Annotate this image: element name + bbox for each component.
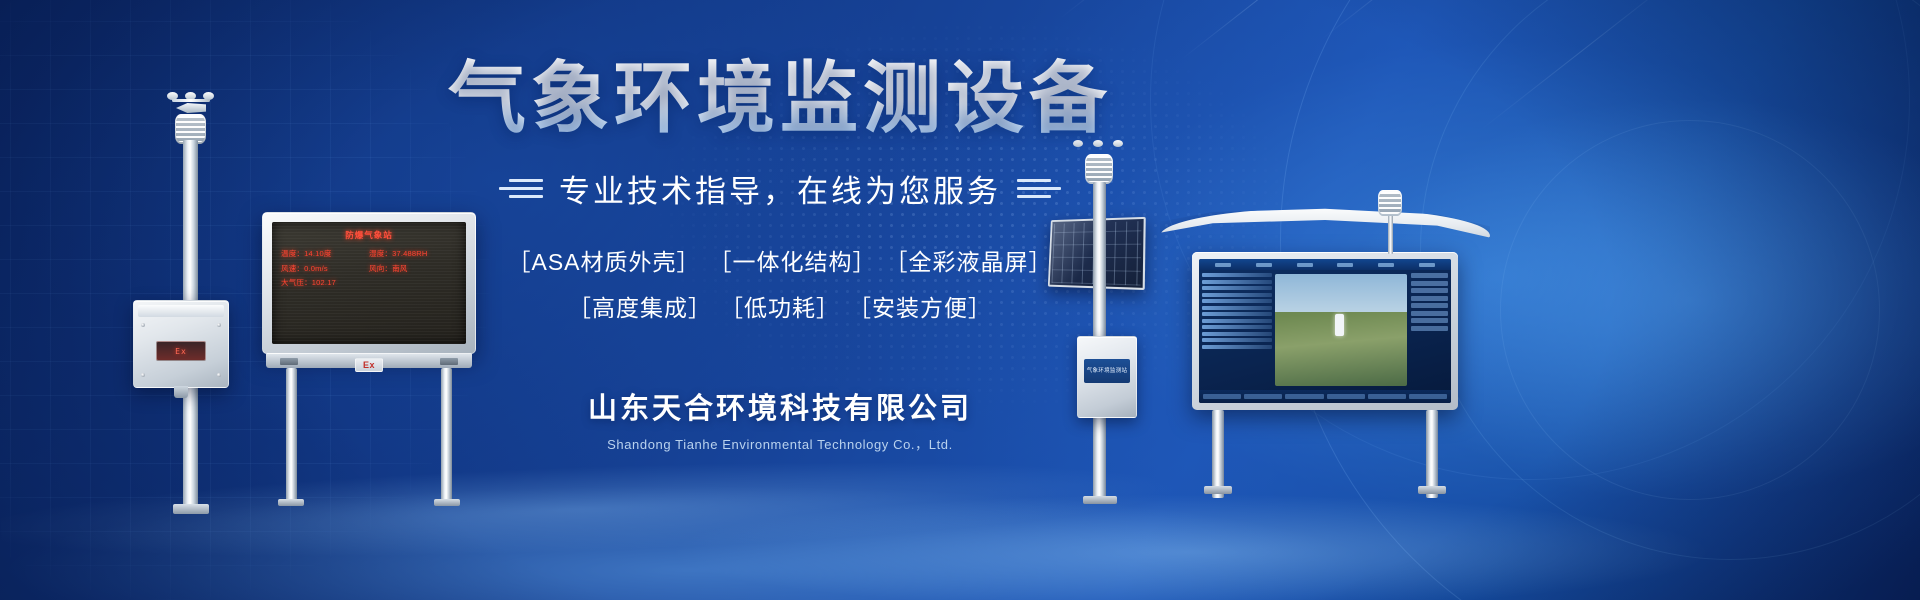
- feature-tag-list: ［ASA材质外壳］ ［一体化结构］ ［全彩液晶屏］ ［高度集成］ ［低功耗］ ［…: [507, 243, 1052, 323]
- kiosk-screen-body: [1199, 270, 1451, 390]
- screw-icon: [217, 373, 221, 377]
- banner-subtitle-row: 专业技术指导，在线为您服务: [499, 166, 1061, 211]
- kiosk-lcd-screen: [1199, 259, 1451, 403]
- feature-tag: ［安装方便］: [848, 289, 992, 323]
- display-leg: [286, 368, 297, 502]
- kiosk-foot: [1418, 486, 1446, 494]
- wind-vane-icon: [176, 103, 206, 113]
- kiosk-canopy: [1160, 208, 1490, 248]
- feature-tag: ［一体化结构］: [709, 243, 877, 277]
- feature-tag-row: ［ASA材质外壳］ ［一体化结构］ ［全彩液晶屏］: [507, 243, 1052, 277]
- feature-tag: ［全彩液晶屏］: [885, 243, 1053, 277]
- kiosk-screen-header: [1199, 259, 1451, 270]
- outdoor-lcd-kiosk-device: [1160, 190, 1490, 490]
- company-signature: 山东天合环境科技有限公司 Shandong Tianhe Environment…: [588, 385, 972, 453]
- company-name-cn: 山东天合环境科技有限公司: [588, 385, 972, 427]
- ex-rating-badge: Ex: [355, 358, 383, 372]
- explosion-proof-enclosure: Ex: [133, 300, 229, 388]
- led-reading-windspeed: 风速：0.0m/s: [281, 262, 369, 277]
- enclosure-display-window: Ex: [156, 341, 206, 361]
- arc-decoration-3: [1500, 120, 1880, 500]
- product-banner: Ex 防爆气象站 温度：14.10度 湿度：37.488RH 风速：0.0m/s…: [0, 0, 1920, 600]
- kiosk-screen-frame: [1192, 252, 1458, 410]
- display-foot: [278, 499, 304, 506]
- enclosure-lid: [138, 305, 224, 317]
- feature-tag: ［低功耗］: [720, 289, 840, 323]
- screw-icon: [141, 323, 145, 327]
- kiosk-screen-left-panel: [1199, 270, 1275, 390]
- enclosure-window-text: Ex: [175, 347, 187, 356]
- light-streak-3: [1480, 0, 1685, 131]
- arc-decoration-2: [1420, 0, 1920, 560]
- kiosk-foot: [1204, 486, 1232, 494]
- light-streak-1: [1180, 0, 1417, 61]
- kiosk-leg: [1212, 410, 1224, 498]
- mast-base: [173, 504, 209, 514]
- weather-mast-device: [168, 88, 214, 508]
- triple-line-decoration-left: [499, 179, 543, 198]
- triple-line-decoration-right: [1017, 179, 1061, 198]
- banner-content: 气象环境监测设备 专业技术指导，在线为您服务 ［ASA材质外壳］ ［一体化结构］…: [390, 0, 1170, 600]
- led-reading-temperature: 温度：14.10度: [281, 247, 369, 262]
- kiosk-screen-video-area: [1275, 274, 1407, 386]
- feature-tag: ［ASA材质外壳］: [507, 243, 700, 277]
- kiosk-screen-footer: [1199, 390, 1451, 403]
- kiosk-sensor-shield: [1378, 190, 1402, 216]
- feature-tag-row: ［高度集成］ ［低功耗］ ［安装方便］: [568, 289, 992, 323]
- screw-icon: [217, 323, 221, 327]
- mast-crossarm: [172, 99, 210, 102]
- display-vent: [280, 358, 298, 365]
- kiosk-leg: [1426, 410, 1438, 498]
- light-streak-2: [1320, 0, 1494, 41]
- banner-subtitle: 专业技术指导，在线为您服务: [559, 166, 1001, 211]
- kiosk-sensor-stem: [1388, 214, 1393, 254]
- screw-icon: [141, 373, 145, 377]
- company-name-en: Shandong Tianhe Environmental Technology…: [607, 434, 953, 453]
- kiosk-screen-right-panel: [1411, 270, 1451, 390]
- banner-headline: 气象环境监测设备: [448, 56, 1112, 140]
- cable-gland: [174, 386, 188, 398]
- feature-tag: ［高度集成］: [568, 289, 712, 323]
